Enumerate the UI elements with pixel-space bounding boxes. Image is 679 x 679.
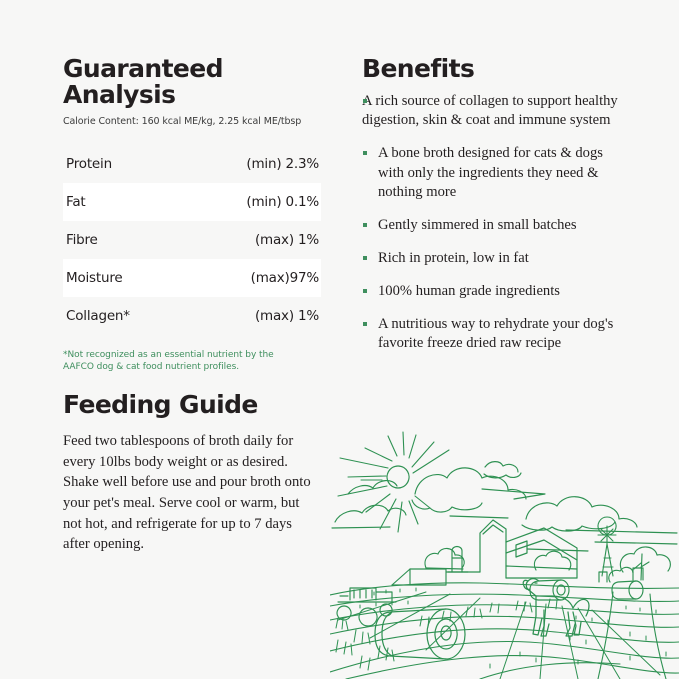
bullet-icon <box>363 223 367 227</box>
list-item: A rich source of collagen to support hea… <box>362 92 624 130</box>
table-row: Moisture (max)97% <box>63 259 321 297</box>
bullet-icon <box>363 322 367 326</box>
farm-landscape-illustration <box>330 420 679 679</box>
benefit-text: Rich in protein, low in fat <box>378 250 529 266</box>
nutrient-value: (min) 2.3% <box>246 156 319 172</box>
windmill-icon <box>598 517 616 576</box>
feeding-guide-title: Feeding Guide <box>63 392 321 418</box>
tractor-icon <box>337 588 396 626</box>
benefit-text: Gently simmered in small batches <box>378 217 577 233</box>
cloud-icon-right <box>522 497 677 551</box>
calorie-content-text: Calorie Content: 160 kcal ME/kg, 2.25 kc… <box>63 116 321 127</box>
aafco-footnote: *Not recognized as an essential nutrient… <box>63 349 321 373</box>
sun-icon <box>387 466 409 488</box>
footnote-line-2: AAFCO dog & cat food nutrient profiles. <box>63 361 321 373</box>
nutrient-value: (max) 1% <box>255 308 319 324</box>
nutrient-value: (max) 1% <box>255 232 319 248</box>
product-info-panel: Guaranteed Analysis Calorie Content: 160… <box>0 0 679 679</box>
bullet-icon <box>363 99 367 103</box>
benefit-text: A rich source of collagen to support hea… <box>362 92 624 130</box>
list-item: Gently simmered in small batches <box>362 216 624 235</box>
guaranteed-analysis-title: Guaranteed Analysis <box>63 56 321 109</box>
tree-icon-left <box>425 548 464 569</box>
list-item: A nutritious way to rehydrate your dog's… <box>362 315 624 353</box>
table-row: Protein (min) 2.3% <box>63 145 321 183</box>
nutrition-table: Protein (min) 2.3% Fat (min) 0.1% Fibre … <box>63 145 321 335</box>
bullet-icon <box>363 256 367 260</box>
table-row: Fat (min) 0.1% <box>63 183 321 221</box>
table-row: Fibre (max) 1% <box>63 221 321 259</box>
list-item: Rich in protein, low in fat <box>362 249 624 268</box>
path-lines <box>598 592 666 679</box>
hay-bale-right <box>612 581 643 599</box>
benefit-text: 100% human grade ingredients <box>378 283 560 299</box>
guaranteed-analysis-section: Guaranteed Analysis Calorie Content: 160… <box>63 56 321 373</box>
nutrient-label: Collagen* <box>66 308 130 324</box>
list-item: 100% human grade ingredients <box>362 282 624 301</box>
tree-icon-right <box>620 547 670 580</box>
feeding-guide-section: Feeding Guide Feed two tablespoons of br… <box>63 392 321 569</box>
footnote-line-1: *Not recognized as an essential nutrient… <box>63 349 321 361</box>
benefits-section: Benefits A rich source of collagen to su… <box>362 56 624 353</box>
nutrient-label: Protein <box>66 156 112 172</box>
benefit-text: A bone broth designed for cats & dogs wi… <box>378 145 603 199</box>
nutrient-label: Moisture <box>66 270 123 286</box>
benefits-title: Benefits <box>362 56 624 82</box>
benefits-list: A rich source of collagen to support hea… <box>362 92 624 353</box>
nutrient-label: Fat <box>66 194 86 210</box>
cloud-icon-center <box>412 462 545 518</box>
bullet-icon <box>363 289 367 293</box>
nutrient-value: (max)97% <box>251 270 319 286</box>
nutrient-label: Fibre <box>66 232 98 248</box>
table-row: Collagen* (max) 1% <box>63 297 321 335</box>
bullet-icon <box>363 151 367 155</box>
list-item: A bone broth designed for cats & dogs wi… <box>362 144 624 201</box>
benefit-text: A nutritious way to rehydrate your dog's… <box>378 316 613 351</box>
feeding-guide-body: Feed two tablespoons of broth daily for … <box>63 431 321 554</box>
nutrient-value: (min) 0.1% <box>246 194 319 210</box>
barn-icon <box>448 520 577 578</box>
